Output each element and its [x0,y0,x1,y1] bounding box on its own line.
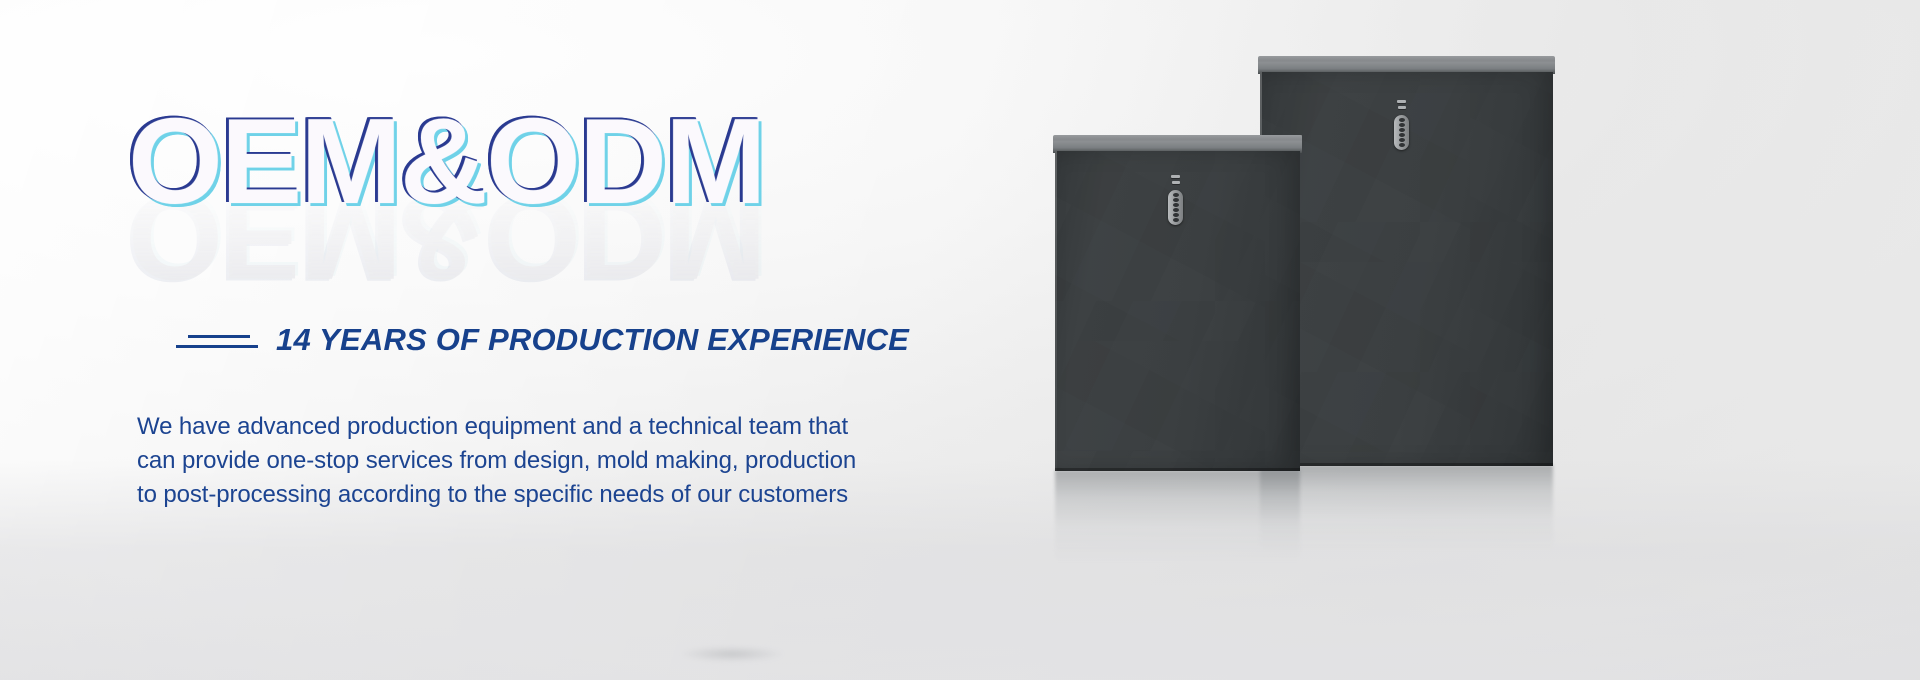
banner-text-column: OEM&ODM OEM&ODM 14 YEARS OF PRODUCTION E… [0,0,980,680]
indicator-dash-2 [1398,106,1406,109]
double-rule-decoration [176,333,258,348]
indicator-dot [1399,143,1405,147]
indicator-capsule [1168,190,1183,225]
rule-top-line [188,335,250,338]
front-cabinet [1055,151,1300,471]
front-cabinet-top-highlight [1053,135,1302,140]
indicator-dot [1173,198,1179,202]
indicator-dot [1399,128,1405,132]
indicator-dot [1399,123,1405,127]
banner-headline: OEM&ODM [128,104,908,219]
indicator-dot [1399,138,1405,142]
front-cabinet-left-edge [1055,151,1057,471]
paragraph-line-1: We have advanced production equipment an… [137,410,837,444]
product-photo-group [980,0,1920,680]
indicator-dot [1173,208,1179,212]
paragraph-line-3: to post-processing according to the spec… [137,478,837,512]
indicator-dot [1399,118,1405,122]
rear-cabinet-bottom-edge [1260,463,1553,466]
rear-cabinet-top-highlight [1258,56,1555,61]
banner-paragraph: We have advanced production equipment an… [137,410,837,512]
indicator-dot [1173,218,1179,222]
headline-group: OEM&ODM OEM&ODM [128,104,908,314]
floor-smudge [672,646,792,662]
rear-cabinet [1260,72,1553,466]
rear-cabinet-indicator [1394,100,1409,150]
indicator-dot [1399,133,1405,137]
indicator-dash-1 [1171,175,1180,178]
rear-cabinet-reflection [1260,465,1553,551]
rule-bottom-line [176,345,258,348]
promo-banner: OEM&ODM OEM&ODM 14 YEARS OF PRODUCTION E… [0,0,1920,680]
front-cabinet-bottom-edge [1055,468,1300,471]
subtitle-group: 14 YEARS OF PRODUCTION EXPERIENCE [176,322,909,358]
indicator-capsule [1394,115,1409,150]
front-cabinet-indicator [1168,175,1183,225]
indicator-dash-1 [1397,100,1406,103]
indicator-dot [1173,203,1179,207]
indicator-dot [1173,193,1179,197]
indicator-dot [1173,213,1179,217]
banner-subtitle: 14 YEARS OF PRODUCTION EXPERIENCE [276,322,909,358]
front-cabinet-reflection [1055,470,1300,562]
indicator-dash-2 [1172,181,1180,184]
paragraph-line-2: can provide one-stop services from desig… [137,444,837,478]
